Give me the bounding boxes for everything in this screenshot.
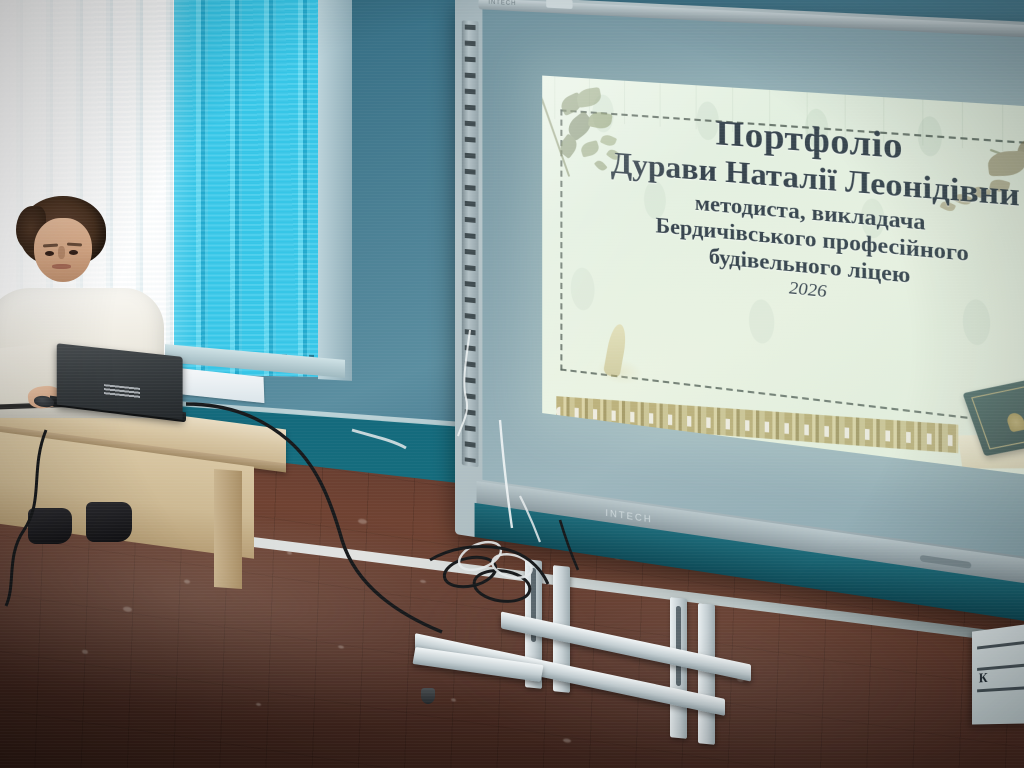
stand-caster	[421, 688, 435, 704]
whiteboard-top-tab	[546, 0, 572, 9]
whiteboard-surface[interactable]: Портфоліо Дурави Наталії Леонідівни мето…	[482, 9, 1024, 563]
window-reveal	[318, 0, 352, 381]
desk-leg	[214, 469, 242, 589]
quill-pen-decoration-icon	[597, 321, 651, 387]
whiteboard-floor-stand	[405, 560, 875, 760]
pen-tray-rail[interactable]	[462, 20, 479, 467]
book-illustration-icon	[960, 367, 1024, 475]
person-boot-right	[86, 502, 132, 542]
person-mouth	[52, 264, 71, 269]
stand-post-right-outer	[698, 603, 715, 745]
classroom-photo: Портфоліо Дурави Наталії Леонідівни мето…	[0, 0, 1024, 768]
wall-sign-letter: К	[979, 671, 988, 687]
person-nose	[58, 246, 65, 259]
person-boot-left	[28, 508, 72, 544]
wall-mounted-sign: К	[972, 624, 1024, 724]
projected-slide: Портфоліо Дурави Наталії Леонідівни мето…	[542, 76, 1024, 484]
interactive-whiteboard[interactable]: Портфоліо Дурави Наталії Леонідівни мето…	[455, 0, 1024, 630]
